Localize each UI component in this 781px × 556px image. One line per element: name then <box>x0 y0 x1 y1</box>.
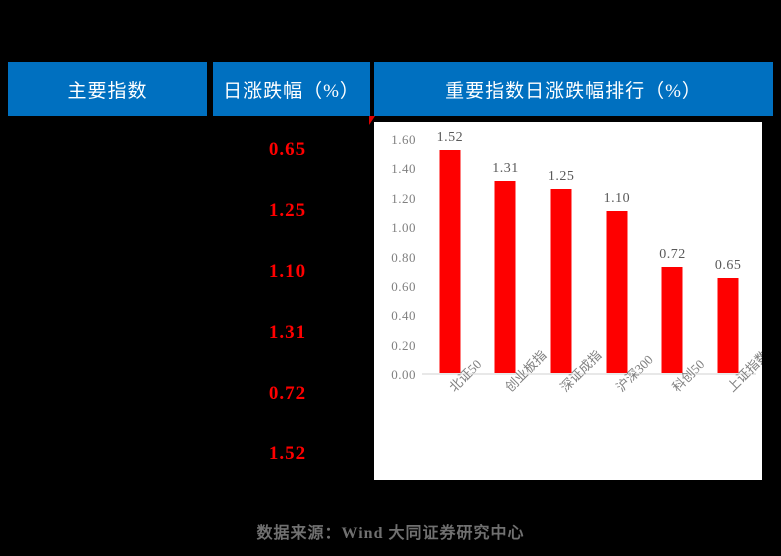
y-axis-tick-label: 0.00 <box>391 367 416 383</box>
chart-bar-value-label: 1.10 <box>604 191 631 207</box>
table-row <box>8 302 207 363</box>
table-row <box>8 242 207 303</box>
chart-bar-value-label: 0.72 <box>659 247 686 263</box>
chart-bar-slot: 0.72 <box>645 138 701 373</box>
y-axis-tick-label: 1.60 <box>391 132 416 148</box>
column-header-ranking-chart: 重要指数日涨跌幅排行（%） <box>374 62 773 116</box>
chart-plot-wrapper: 0.000.200.400.600.801.001.201.401.60 1.5… <box>374 122 762 480</box>
table-row <box>8 424 207 485</box>
chart-x-slot: 沪深300 <box>589 378 645 478</box>
index-ranking-bar-chart: 0.000.200.400.600.801.001.201.401.60 1.5… <box>374 122 762 480</box>
chart-bar[interactable] <box>439 150 460 373</box>
chart-bar[interactable] <box>662 267 683 373</box>
chart-bar-slot: 1.10 <box>589 138 645 373</box>
chart-bar[interactable] <box>606 211 627 373</box>
chart-x-axis: 北证50创业板指深证成指沪深300科创50上证指数 <box>422 378 756 478</box>
chart-y-axis: 0.000.200.400.600.801.001.201.401.60 <box>376 140 416 375</box>
table-row <box>8 363 207 424</box>
y-axis-tick-label: 1.40 <box>391 161 416 177</box>
chart-x-slot: 深证成指 <box>533 378 589 478</box>
daily-change-value: 0.72 <box>213 363 362 424</box>
chart-bar-slot: 1.52 <box>422 138 478 373</box>
daily-change-value: 1.10 <box>213 242 362 303</box>
chart-bar-value-label: 1.25 <box>548 169 575 185</box>
column-header-daily-change: 日涨跌幅（%） <box>213 62 370 116</box>
chart-bar-slot: 1.25 <box>533 138 589 373</box>
y-axis-tick-label: 0.60 <box>391 279 416 295</box>
chart-bar-slot: 1.31 <box>478 138 534 373</box>
chart-x-slot: 创业板指 <box>478 378 534 478</box>
chart-x-slot: 北证50 <box>422 378 478 478</box>
table-row <box>8 181 207 242</box>
chart-bar-value-label: 1.31 <box>492 161 519 177</box>
source-note: 数据来源：Wind 大同证券研究中心 <box>0 519 781 543</box>
table-row <box>8 120 207 181</box>
chart-x-slot: 科创50 <box>645 378 701 478</box>
chart-x-slot: 上证指数 <box>700 378 756 478</box>
chart-bar-value-label: 1.52 <box>437 130 464 146</box>
y-axis-tick-label: 0.20 <box>391 338 416 354</box>
chart-bar[interactable] <box>718 278 739 373</box>
chart-plot-area: 1.521.311.251.100.720.65 <box>422 140 756 375</box>
y-axis-tick-label: 1.20 <box>391 191 416 207</box>
main-index-column-body <box>8 120 207 485</box>
chart-bar[interactable] <box>495 181 516 373</box>
y-axis-tick-label: 0.40 <box>391 308 416 324</box>
y-axis-tick-label: 1.00 <box>391 220 416 236</box>
chart-bar-slot: 0.65 <box>700 138 756 373</box>
daily-change-column-body: 0.65 1.25 1.10 1.31 0.72 1.52 <box>213 120 362 485</box>
daily-change-value: 1.25 <box>213 181 362 242</box>
column-header-main-index: 主要指数 <box>8 62 207 116</box>
daily-change-value: 1.52 <box>213 424 362 485</box>
daily-change-value: 1.31 <box>213 302 362 363</box>
chart-bar-value-label: 0.65 <box>715 258 742 274</box>
daily-change-value: 0.65 <box>213 120 362 181</box>
chart-bar[interactable] <box>551 189 572 373</box>
table-header-row: 主要指数 日涨跌幅（%） 重要指数日涨跌幅排行（%） <box>8 62 773 116</box>
y-axis-tick-label: 0.80 <box>391 250 416 266</box>
